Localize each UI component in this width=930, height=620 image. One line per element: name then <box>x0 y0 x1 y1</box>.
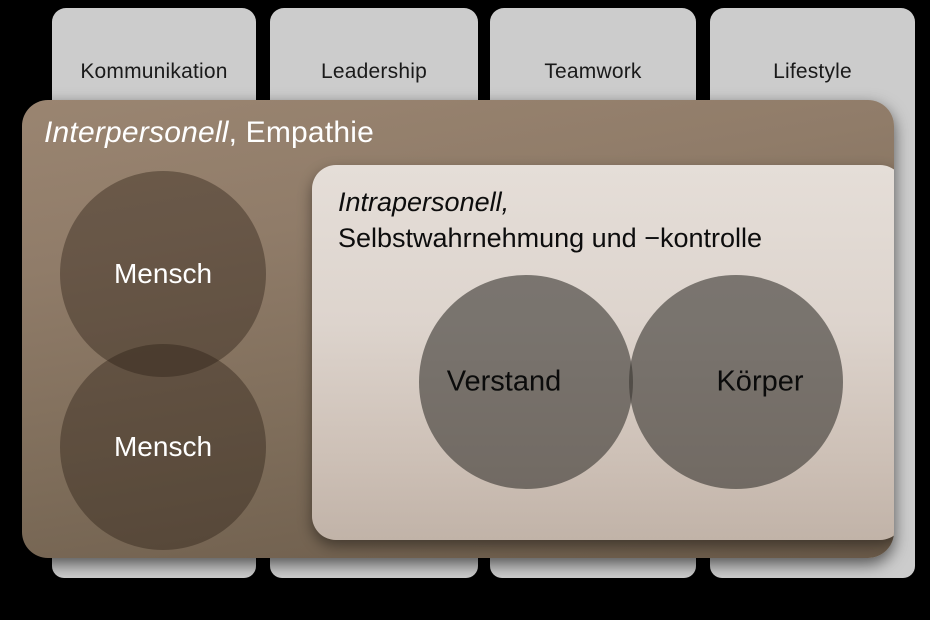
interpersonal-panel: Interpersonell, Empathie Mensch Mensch I… <box>22 100 894 558</box>
intrapersonal-panel: Intrapersonell,Selbstwahrnehmung und −ko… <box>312 165 894 540</box>
koerper-circle: Körper <box>629 275 843 489</box>
intrapersonal-title-emphasis: Intrapersonell, <box>338 187 509 217</box>
interpersonal-title-rest: , Empathie <box>229 116 374 149</box>
interpersonal-title: Interpersonell, Empathie <box>44 116 374 150</box>
intrapersonal-title-rest: Selbstwahrnehmung und −kontrolle <box>338 223 762 253</box>
diagram-canvas: Kommunikation Leadership Teamwork Lifest… <box>0 0 930 620</box>
circle-label: Mensch <box>60 431 266 463</box>
circle-label: Verstand <box>397 366 611 399</box>
tab-label: Lifestyle <box>710 60 915 84</box>
interpersonal-title-emphasis: Interpersonell <box>44 116 229 149</box>
circle-label: Mensch <box>60 258 266 290</box>
intrapersonal-title: Intrapersonell,Selbstwahrnehmung und −ko… <box>338 185 762 256</box>
tab-label: Kommunikation <box>52 60 256 84</box>
tab-label: Teamwork <box>490 60 696 84</box>
mensch-circle-bottom: Mensch <box>60 344 266 550</box>
circle-label: Körper <box>653 366 867 399</box>
tab-label: Leadership <box>270 60 478 84</box>
verstand-circle: Verstand <box>419 275 633 489</box>
